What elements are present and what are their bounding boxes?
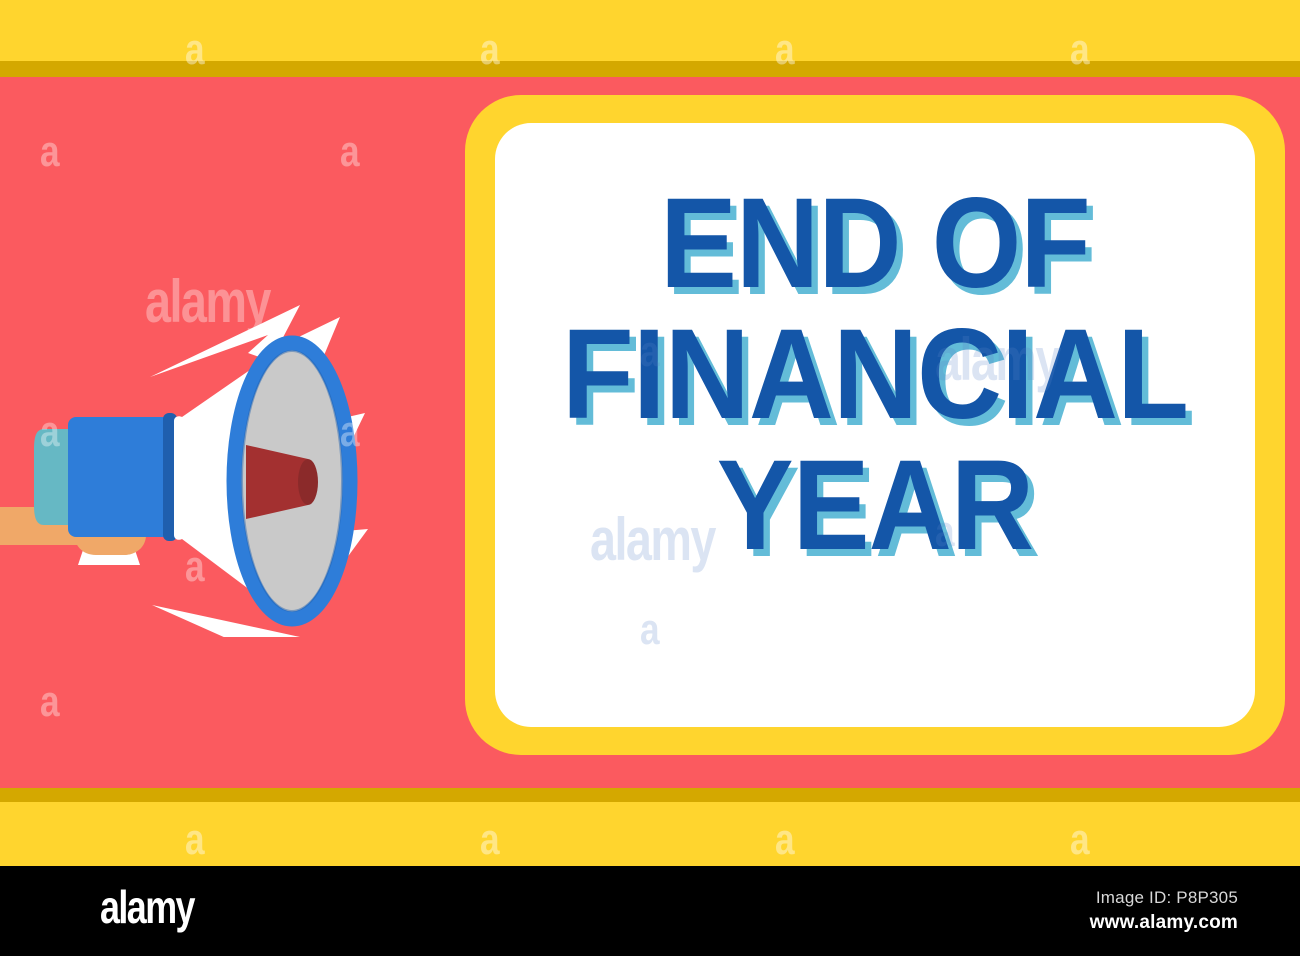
bottom-gold-stripe bbox=[0, 788, 1300, 802]
megaphone-illustration bbox=[0, 77, 500, 637]
headline-line-2: FINANCIAL bbox=[525, 314, 1224, 437]
megaphone-horn-tip bbox=[298, 459, 318, 505]
alamy-url-label: www.alamy.com bbox=[1090, 912, 1238, 934]
alamy-logo: alamy bbox=[100, 884, 194, 930]
megaphone-collar bbox=[68, 417, 170, 537]
poster-image: END OF FINANCIAL YEAR aaaaaaaaalamyaaaal… bbox=[0, 0, 1300, 956]
headline-line-1: END OF bbox=[533, 183, 1217, 306]
footer-bar bbox=[0, 866, 1300, 956]
headline-line-3: YEAR bbox=[533, 445, 1217, 568]
bottom-yellow-band bbox=[0, 802, 1300, 866]
top-gold-stripe bbox=[0, 61, 1300, 77]
image-id-label: Image ID: P8P305 bbox=[1096, 888, 1238, 908]
megaphone-end-cap bbox=[34, 429, 72, 525]
headline-text: END OF FINANCIAL YEAR bbox=[495, 183, 1255, 568]
top-yellow-band bbox=[0, 0, 1300, 61]
